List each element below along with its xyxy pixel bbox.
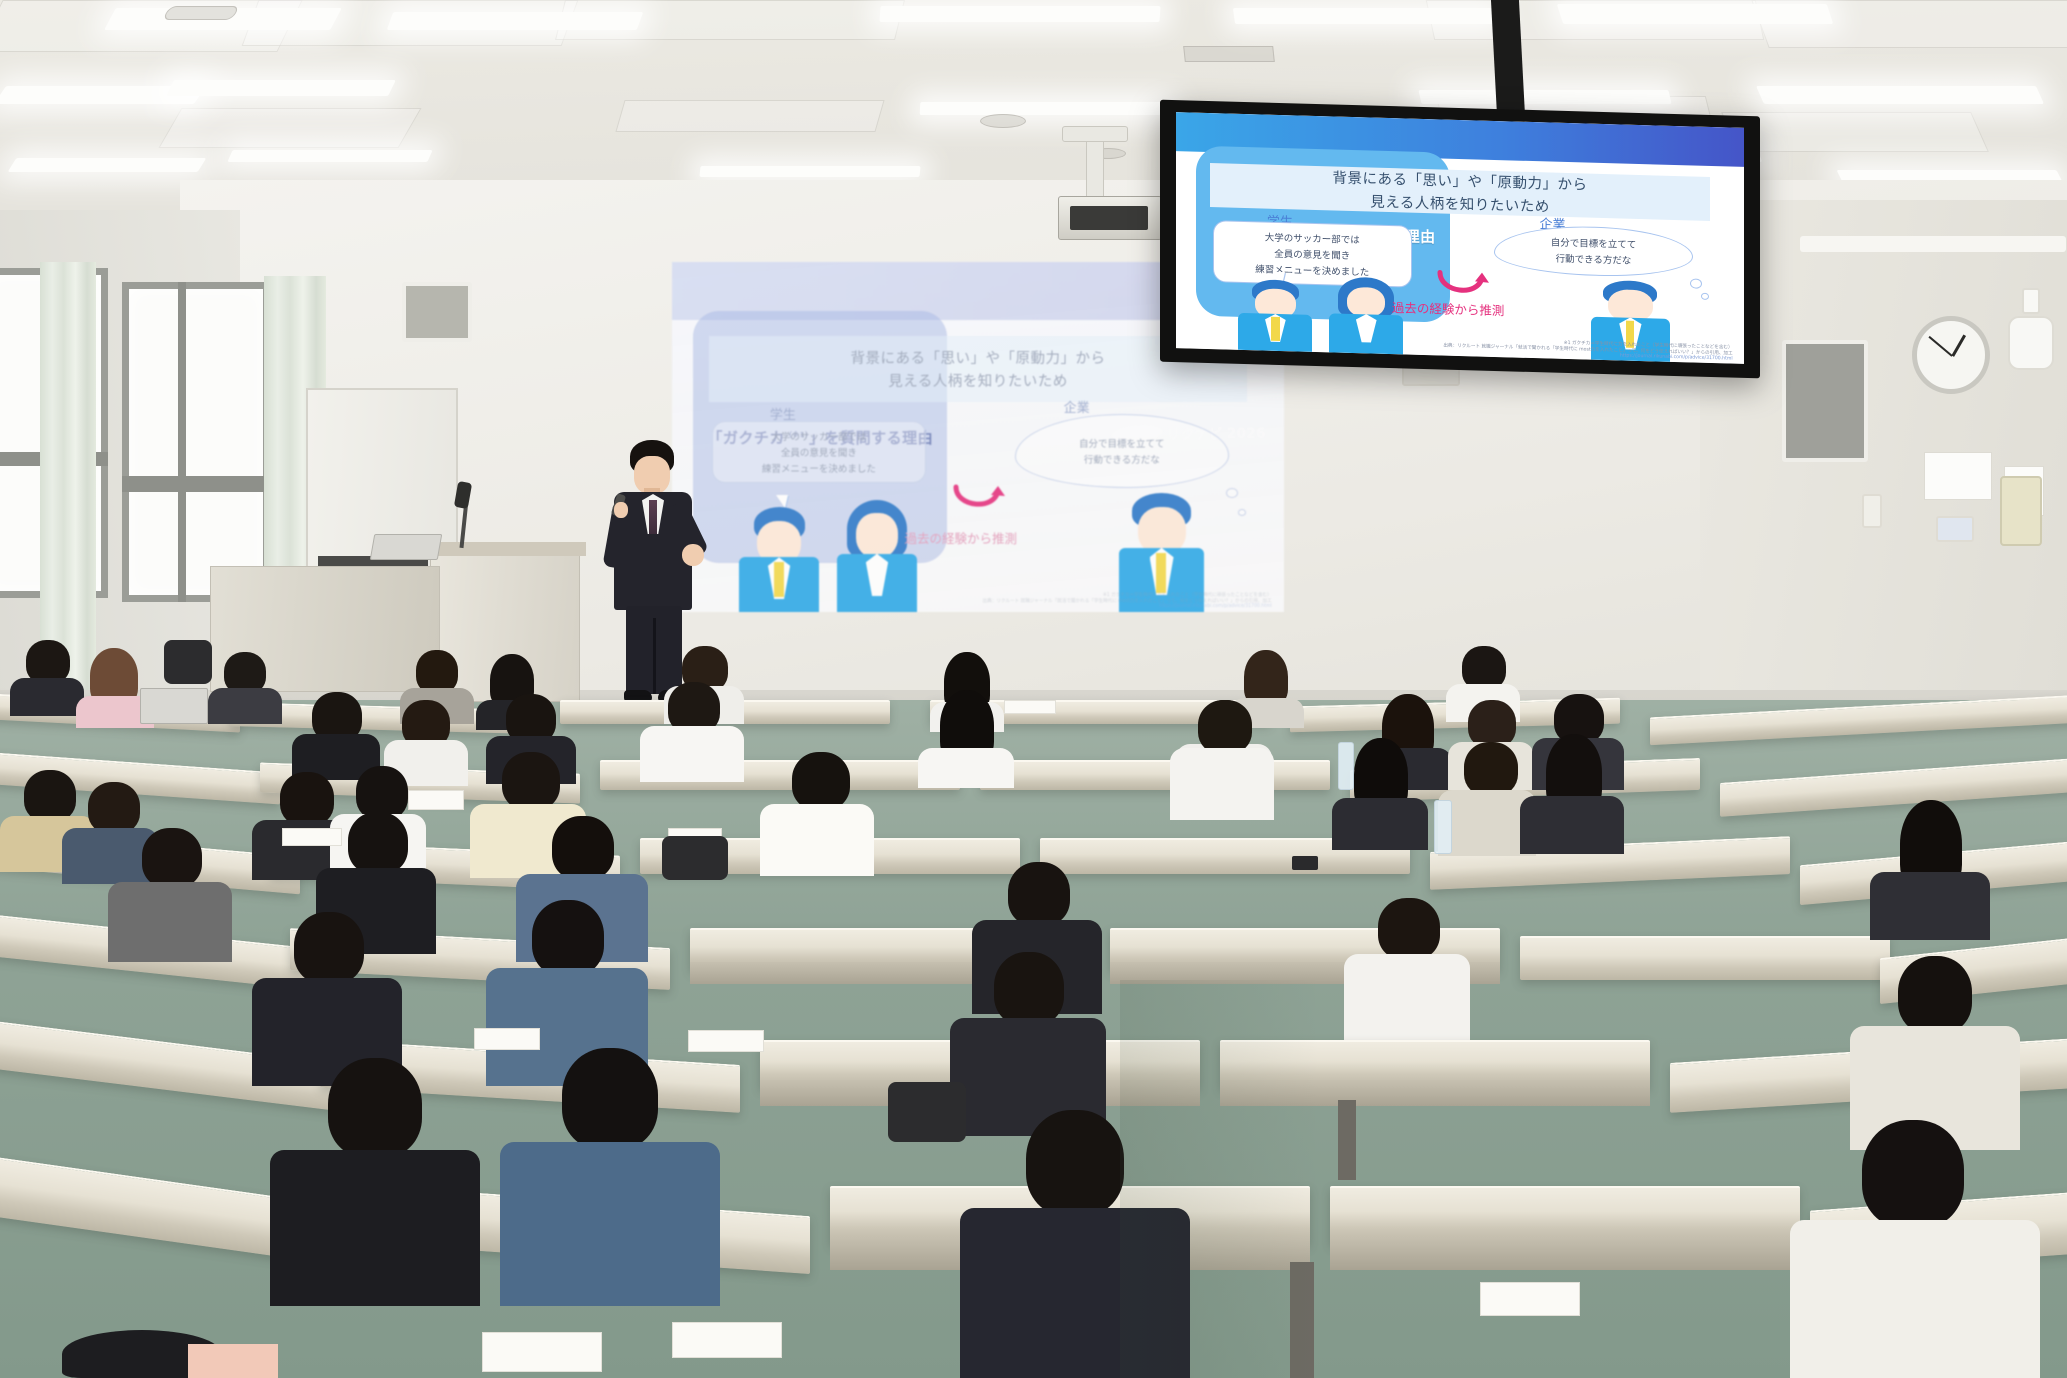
wall-mounted-display: 「ガクチカ（※1）」を質問する理由 リクナビ 2026 背景にある「思い」や「原… xyxy=(1160,100,1760,379)
audience-person xyxy=(960,1110,1190,1378)
handout-paper xyxy=(408,790,464,810)
audience-person xyxy=(1790,1120,2040,1378)
ceiling-light xyxy=(1756,86,2044,104)
banner-line-2: 見える人柄を知りたいため xyxy=(888,370,1068,391)
audience-person xyxy=(252,912,402,1082)
column-label-company: 企業 xyxy=(1064,397,1090,416)
audience-person xyxy=(10,640,84,710)
audience-person xyxy=(1170,700,1274,818)
student-quote-line-1: 大学のサッカー部では xyxy=(771,429,866,443)
smartphone[interactable] xyxy=(1292,856,1318,870)
lectern-top xyxy=(424,542,586,556)
handout-paper xyxy=(672,1322,782,1358)
audience-person xyxy=(500,1048,720,1298)
audience-laptop[interactable] xyxy=(140,688,208,724)
window-left-2 xyxy=(122,282,270,602)
audience-person xyxy=(1344,898,1470,1040)
curtain-left-1 xyxy=(40,262,96,692)
footnote-line-2: 出典：リクルート 就職ジャーナル「就活で聞かれる「学生時代に most力を入れた… xyxy=(983,597,1272,603)
ceiling-light xyxy=(1233,8,1495,24)
ceiling-tile xyxy=(615,100,884,132)
audience-person xyxy=(1850,956,2020,1146)
ceiling-vent xyxy=(162,6,240,20)
thought-bubble-dot-large xyxy=(1226,488,1238,498)
speech-bubble-tail xyxy=(776,495,788,508)
presenter-left-hand xyxy=(614,502,628,518)
ceiling-light xyxy=(8,158,207,172)
student-quote-line-2: 全員の意見を聞き xyxy=(1274,246,1350,262)
light-switch[interactable] xyxy=(1862,494,1882,528)
wall-sensor xyxy=(2008,316,2054,370)
ceiling-light xyxy=(1557,4,1833,24)
logo-year: 2026 xyxy=(1227,426,1266,442)
water-bottle xyxy=(1434,800,1452,854)
ceiling-light xyxy=(879,6,1160,22)
desk-row-2-right xyxy=(980,760,1330,790)
backpack xyxy=(164,640,212,684)
desk-apron xyxy=(1220,1080,1650,1106)
desk-apron xyxy=(1330,1236,1800,1270)
student-quote-line-2: 全員の意見を聞き xyxy=(781,445,857,459)
footnote-line-1: ※1 ガクチカ＝学生時代に力を入れたこと（学生時代に頑張ったことなどを含む） xyxy=(1103,591,1272,597)
arrow-label: 過去の経験から推測 xyxy=(1392,297,1505,319)
clock-minute-hand xyxy=(1928,336,1952,357)
logo-year: 2026 xyxy=(1688,234,1727,251)
ceiling-tile xyxy=(1721,112,1989,152)
company-thought-line-1: 自分で目標を立てて xyxy=(1079,436,1165,450)
handout-paper xyxy=(474,1028,540,1050)
wall-vent-right xyxy=(1782,340,1868,462)
thought-bubble-dot-small xyxy=(1238,509,1246,516)
desk-row-4-far-right xyxy=(1520,936,1890,980)
company-thought-line-2: 行動できる方だな xyxy=(1084,452,1160,466)
student-quote-line-3: 練習メニューを決めました xyxy=(762,461,876,475)
slide-on-display: 「ガクチカ（※1）」を質問する理由 リクナビ 2026 背景にある「思い」や「原… xyxy=(1176,112,1744,364)
wall-telephone[interactable] xyxy=(2000,476,2042,546)
ceiling-light xyxy=(699,166,920,177)
company-thought-bubble: 自分で目標を立てて 行動できる方だな xyxy=(1015,414,1229,488)
audience-person xyxy=(270,1058,480,1298)
window-mullion xyxy=(122,476,270,492)
student-speech-bubble: 大学のサッカー部では 全員の意見を聞き 練習メニューを決めました xyxy=(712,421,926,483)
footnote-url: https://journal.rikunabi.com/p/advice/31… xyxy=(1159,603,1272,608)
wall-trim xyxy=(1800,236,2066,252)
lecture-hall-photo: 「ガクチカ（※1）」を質問する理由 リクナビ 2026 背景にある「思い」や「原… xyxy=(0,0,2067,1378)
audience-person xyxy=(108,828,232,958)
window-mullion xyxy=(178,282,186,602)
lectern-laptop[interactable] xyxy=(370,534,443,560)
column-label-student: 学生 xyxy=(770,404,796,423)
sensor-mount xyxy=(2022,288,2040,314)
ceiling-light xyxy=(166,80,396,96)
ceiling-tile xyxy=(158,108,421,148)
ceiling-vent xyxy=(1183,46,1275,62)
desk-leg xyxy=(1338,1100,1356,1180)
clock-hour-hand xyxy=(1951,334,1966,357)
company-thought-line-2: 行動できる方だな xyxy=(1556,251,1632,267)
ceiling-light xyxy=(1418,90,1671,104)
ceiling-light xyxy=(227,150,432,162)
audience-person xyxy=(1870,800,1990,936)
desk-leg xyxy=(1290,1262,1314,1378)
ceiling-vent xyxy=(980,114,1026,128)
banner-line-1: 背景にある「思い」や「原動力」から xyxy=(850,347,1105,368)
tv-ceiling-arm xyxy=(1491,0,1525,116)
ceiling-light xyxy=(387,12,644,30)
audience-person xyxy=(950,952,1106,1132)
wall-notice xyxy=(1924,452,1992,500)
backpack xyxy=(888,1082,966,1142)
presenter-necktie xyxy=(649,500,657,534)
slide-footnote: ※1 ガクチカ＝学生時代に力を入れたこと（学生時代に頑張ったことなどを含む） 出… xyxy=(745,592,1271,609)
audience-person xyxy=(1332,738,1428,846)
projector-lens xyxy=(1070,206,1148,230)
audience-person xyxy=(640,682,744,780)
audience-person xyxy=(760,752,874,874)
student-quote-line-1: 大学のサッカー部では xyxy=(1265,230,1360,247)
handout-paper xyxy=(1480,1282,1580,1316)
handout-paper xyxy=(482,1332,602,1372)
ceiling-light xyxy=(920,102,1171,115)
arrow-label: 過去の経験から推測 xyxy=(905,528,1018,547)
handout-paper xyxy=(188,1344,278,1378)
audience-person xyxy=(1520,734,1624,852)
wall-speaker-left xyxy=(402,282,472,342)
pink-curved-arrow-icon xyxy=(950,483,1010,517)
projector-mount-plate xyxy=(1062,126,1128,142)
wall-clock xyxy=(1912,316,1990,394)
company-thought-line-1: 自分で目標を立てて xyxy=(1551,235,1637,251)
display-screen: 「ガクチカ（※1）」を質問する理由 リクナビ 2026 背景にある「思い」や「原… xyxy=(1176,112,1744,364)
banner-line-2: 見える人柄を知りたいため xyxy=(1370,190,1550,216)
audience-person xyxy=(208,652,282,722)
shoulder-bag xyxy=(662,836,728,880)
wall-control-panel[interactable] xyxy=(1936,516,1974,542)
audience-person xyxy=(918,690,1014,784)
presenter-right-hand xyxy=(682,544,704,566)
